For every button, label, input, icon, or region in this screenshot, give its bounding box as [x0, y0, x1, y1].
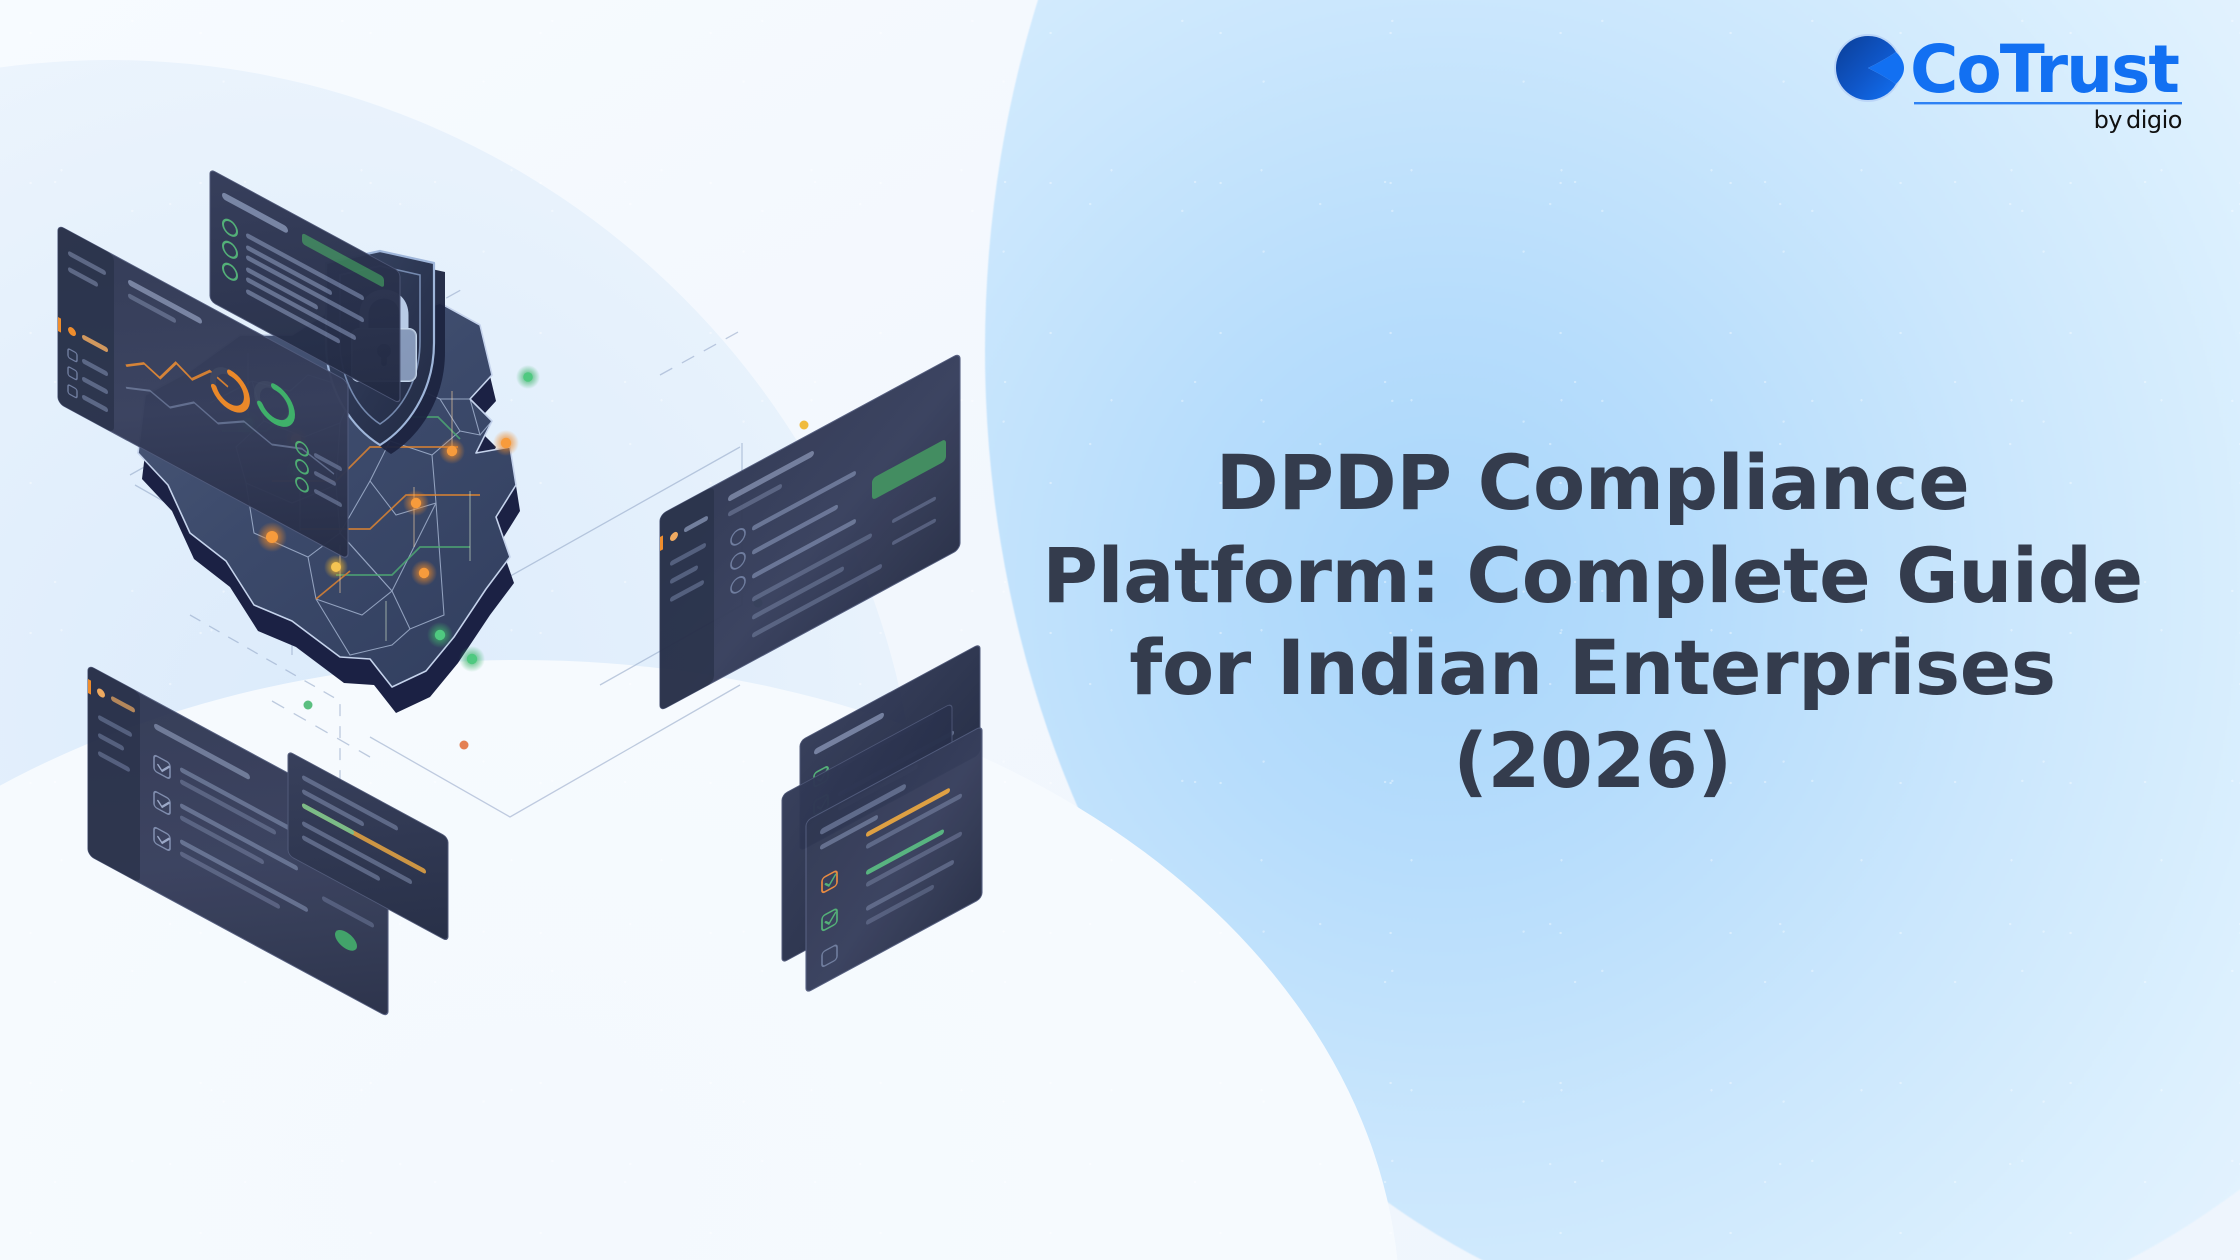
- cotrust-mark-icon: [1834, 34, 1904, 102]
- logo-tagline: bydigio: [2094, 106, 2182, 134]
- page-title: DPDP Compliance Platform: Complete Guide…: [975, 437, 2210, 808]
- marker-active-ne: [493, 430, 519, 456]
- connector-node-amber: [800, 421, 809, 430]
- marker-secure-se: [459, 646, 485, 672]
- logo-underline: [1914, 102, 2182, 104]
- marker-amber-sw: [324, 555, 348, 579]
- connector-node-green: [304, 701, 313, 710]
- logo-wordmark: CoTrust: [1910, 31, 2179, 108]
- marker-active-deccan: [411, 560, 437, 586]
- marker-secure-s: [427, 622, 453, 648]
- marker-active-c: [403, 490, 429, 516]
- marker-active-e: [439, 438, 465, 464]
- hero-banner: CoTrust bydigio DPDP Compliance Platform…: [0, 0, 2240, 1260]
- marker-active-w: [257, 522, 287, 552]
- marker-secure-far-ne: [516, 365, 540, 389]
- hero-illustration: [40, 185, 960, 885]
- connector-node-orange: [460, 741, 469, 750]
- cotrust-logo[interactable]: CoTrust bydigio: [1822, 18, 2192, 138]
